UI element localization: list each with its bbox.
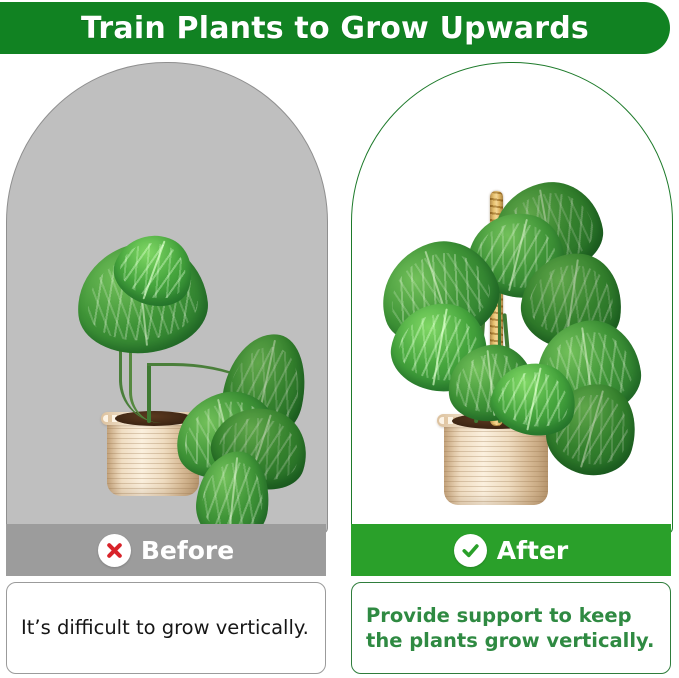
after-caption-box: Provide support to keep the plants grow … xyxy=(351,582,671,674)
after-caption-text: Provide support to keep the plants grow … xyxy=(366,603,656,654)
after-status-bar: After xyxy=(351,524,671,576)
product-comparison-infographic: Train Plants to Grow Upwards xyxy=(0,0,679,678)
before-plant-photo xyxy=(7,63,327,533)
before-panel: Before It’s difficult to grow vertically… xyxy=(2,62,332,678)
header-banner: Train Plants to Grow Upwards xyxy=(0,2,670,54)
after-panel: After Provide support to keep the plants… xyxy=(347,62,677,678)
cross-circle-icon xyxy=(98,534,131,567)
check-circle-icon xyxy=(454,534,487,567)
page-title: Train Plants to Grow Upwards xyxy=(81,11,589,46)
after-status-label: After xyxy=(497,536,568,565)
before-status-bar: Before xyxy=(6,524,326,576)
after-image-frame xyxy=(351,62,673,534)
before-caption-text: It’s difficult to grow vertically. xyxy=(21,615,309,640)
before-image-frame xyxy=(6,62,328,534)
before-caption-box: It’s difficult to grow vertically. xyxy=(6,582,326,674)
before-status-label: Before xyxy=(141,536,234,565)
after-plant-photo xyxy=(352,63,672,533)
